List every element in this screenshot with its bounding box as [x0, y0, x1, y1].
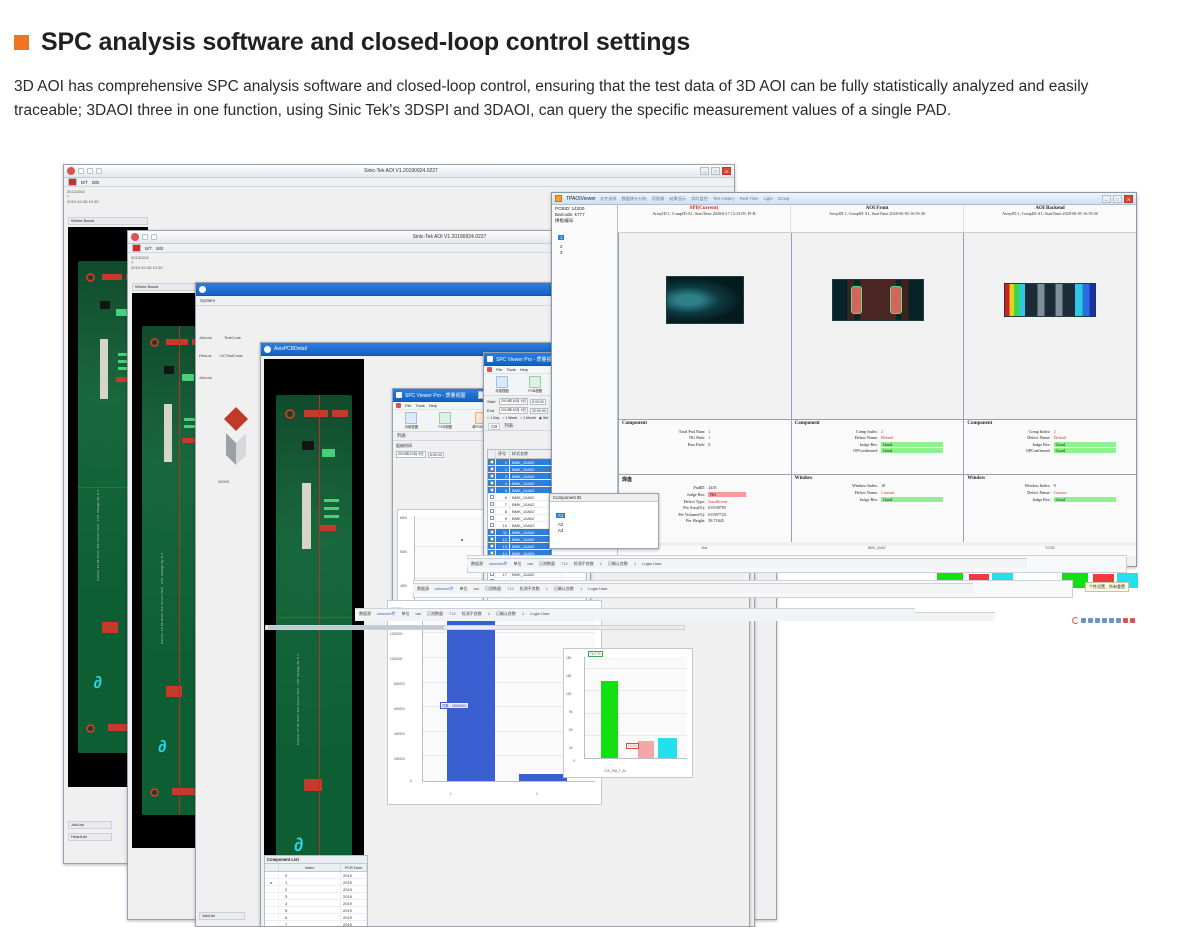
table-body[interactable]: 02019▸1201922019320194201952019620197201…	[265, 872, 367, 927]
row-checkbox[interactable]	[490, 530, 494, 534]
menu-item[interactable]: 文件选择	[600, 196, 617, 202]
title-row: SPC analysis software and closed-loop co…	[14, 28, 1174, 57]
panel-key: PadID:	[619, 485, 708, 490]
column-subtitle: ArrayID:1, CompID:A1, StartTime:2020-06-…	[966, 211, 1134, 216]
tooltip: 个性设置，所有重置	[1085, 582, 1129, 592]
refresh-icon[interactable]	[1072, 617, 1079, 624]
ribbon-label: 月维视图	[495, 388, 509, 393]
joblist-button[interactable]: JobList	[199, 912, 245, 920]
logo-shape-icon	[214, 403, 258, 473]
pcb-view-icon	[529, 376, 541, 388]
panel-value: 0.0397723	[708, 512, 726, 517]
panel-row: Window Index:9	[964, 483, 1136, 488]
minimize-button[interactable]: —	[1102, 195, 1111, 203]
panel-value: 9	[1054, 483, 1056, 488]
status-item: 数据源	[471, 561, 483, 567]
status-item: 已测数量	[539, 561, 555, 567]
download-icon[interactable]	[1102, 618, 1107, 623]
status-item: 712	[507, 586, 514, 591]
col-seq: 序号	[496, 450, 510, 458]
panel-value: Good	[1054, 497, 1116, 502]
app-logo-icon	[131, 233, 139, 241]
tpaoi-panel-row: ComponentTotal Pad Num:2NG Pads:1Pass Pa…	[618, 419, 1136, 542]
label-red	[320, 525, 336, 531]
status-item: 已测数量	[485, 586, 501, 592]
panel-key: Judge Res:	[964, 442, 1053, 447]
home-icon[interactable]	[1095, 618, 1100, 623]
joblist-label-2[interactable]: JobList	[199, 375, 212, 380]
status-item: 已确认良数	[608, 561, 628, 567]
menu-item[interactable]: Real Time	[740, 196, 759, 202]
component-id-window[interactable]: Component ID A1A2A3	[549, 493, 659, 549]
panel-value: 1	[708, 435, 710, 440]
status-item: 检测不良数	[462, 611, 482, 617]
panel-value: 2435	[708, 485, 716, 490]
row-checkbox[interactable]	[490, 495, 494, 499]
panel-row: PadID:2435	[619, 485, 791, 490]
slide-body-text: 3D AOI has comprehensive SPC analysis so…	[14, 75, 1129, 122]
y-tick: 150	[566, 674, 571, 678]
table-row[interactable]: 22019	[265, 886, 367, 893]
component-id-list[interactable]: A1A2A3	[550, 502, 658, 549]
toolbar-icon[interactable]	[142, 234, 148, 240]
status-bar-2[interactable]: 数据源sinicsmt件单位um已测数量712检测不良数1已确认良数1Login…	[413, 583, 973, 593]
titlebar[interactable]: Sinic-Tek AOI V1.20190924.0227 — □ ✕	[64, 165, 734, 178]
close-button[interactable]: ✕	[1124, 195, 1133, 203]
panel-component-3: ComponentComp Index:2Defect Name:Default…	[963, 419, 1136, 474]
panel-key: Window Index:	[964, 483, 1053, 488]
aoi-backend-image-cell[interactable]	[963, 233, 1136, 419]
app-mark-icon	[396, 403, 401, 408]
y-tick: 8000	[400, 516, 407, 520]
menu-item[interactable]: Test History	[713, 196, 735, 202]
mount-hole	[150, 338, 159, 347]
status-item: 1	[488, 611, 490, 616]
panel-row: Judge Res:Good	[964, 497, 1136, 502]
panel-key: OPConfirmed:	[792, 448, 881, 453]
status-item: 已确认良数	[554, 586, 574, 592]
end-label: End	[487, 408, 497, 413]
window-controls[interactable]: — □ ✕	[1102, 195, 1133, 203]
ic-chip	[100, 301, 110, 309]
panel-window-1: WindowWindow Index:10Defect Name:CustomJ…	[791, 474, 964, 542]
tree-item[interactable]: 1	[558, 235, 564, 240]
toolbar-icon[interactable]	[78, 168, 84, 174]
app-logo-icon	[67, 167, 75, 175]
silk-logo: ∂	[294, 835, 303, 857]
status-item: Login User	[588, 586, 607, 591]
status-item: um	[473, 586, 479, 591]
start-time-input[interactable]: 8:00:00	[530, 399, 546, 405]
row-checkbox[interactable]	[490, 467, 494, 471]
connector-pads	[332, 410, 348, 417]
panel-value: Default	[1054, 435, 1067, 440]
y-tick: 1000000	[390, 657, 402, 661]
label-red	[182, 438, 195, 443]
y-tick: 200000	[394, 757, 405, 761]
close-button[interactable]: ✕	[722, 167, 731, 175]
column-header: SPI(Current)ArrayID:1, CompID:A1, StartT…	[618, 205, 790, 232]
tab-bb[interactable]: B/B	[156, 246, 163, 251]
connector-strip	[100, 339, 108, 399]
silkscreen-text: Canner 16.05 Sinic-Tek Vision Tech. LTD.…	[96, 489, 100, 581]
panel-col-3: ComponentComp Index:2Defect Name:Default…	[963, 419, 1136, 542]
tab-system[interactable]: System	[200, 298, 215, 303]
barcode-label: Barcode:	[555, 212, 573, 217]
table-row[interactable]: 52019	[265, 907, 367, 914]
table-row[interactable]: 62019	[265, 914, 367, 921]
y-tick: 0	[410, 779, 412, 783]
more-icon[interactable]	[1130, 618, 1135, 623]
headlist-button[interactable]: HeadList	[68, 833, 112, 841]
gridline	[415, 578, 492, 579]
status-item: 单位	[401, 611, 409, 617]
joblist-button[interactable]: JobList	[68, 821, 112, 829]
panel-row: NG Pads:1	[619, 435, 791, 440]
status-item: 数据源	[359, 611, 371, 617]
defect-marker	[102, 622, 118, 633]
row-checkbox[interactable]	[490, 516, 494, 520]
panel-value: 58.71045	[708, 518, 724, 523]
bar-category-2	[519, 774, 567, 781]
app-mark-icon	[68, 178, 77, 186]
component-pad	[324, 507, 339, 510]
status-bar-3[interactable]: 数据源sinicsmt件单位um已测数量712检测不良数1已确认良数1Login…	[355, 608, 915, 618]
table-row[interactable]: 32019	[265, 893, 367, 900]
panel-key: Defect Name:	[792, 490, 881, 495]
column-header: AOI BackendArrayID:1, CompID:A1, StartTi…	[963, 205, 1136, 232]
status-item: 单位	[459, 586, 467, 592]
mount-hole	[86, 273, 95, 282]
connector-strip	[302, 483, 311, 549]
panel-component-2: ComponentComp Index:2Defect Name:Default…	[791, 419, 964, 474]
tab-bt[interactable]: B/T	[81, 180, 88, 185]
aoi-front-image	[832, 279, 924, 321]
crosshair-horizontal	[276, 617, 352, 618]
start-date-input[interactable]: 2019年10月 9日	[396, 451, 426, 458]
pcbid-label: PCBID:	[555, 206, 570, 211]
panel-key: Total Pad Num:	[619, 429, 708, 434]
panel-value: 2	[881, 429, 883, 434]
status-item: 检测不良数	[520, 586, 540, 592]
mount-hole	[86, 724, 95, 733]
month-view-icon	[496, 376, 508, 388]
y-tick: 600000	[394, 707, 405, 711]
panel-value: Insufficient	[708, 499, 727, 504]
page-title: SPC analysis software and closed-loop co…	[41, 28, 690, 57]
silkscreen-text: Canner 16.05 Sinic-Tek Vision Tech. LTD.…	[160, 553, 164, 645]
menu-tools[interactable]: Tools	[415, 403, 424, 408]
end-date-input[interactable]: 2019年10月 9日	[499, 407, 528, 414]
window-title: Sinic-Tek AOI V1.20190924.0227	[105, 168, 697, 174]
silk-logo: ∂	[158, 737, 166, 757]
tab-cb[interactable]: CB	[488, 423, 500, 430]
component-pad	[116, 309, 128, 316]
bullet-marker-icon	[14, 35, 29, 50]
status-item: 1	[580, 586, 582, 591]
panel-value: Good	[1054, 448, 1116, 453]
ribbon-tab-month[interactable]: 月维视图	[405, 412, 419, 429]
menu-file[interactable]: File	[405, 403, 411, 408]
window-icon[interactable]	[1109, 618, 1114, 623]
radio-1month[interactable]: ○ 1 Month	[520, 416, 536, 420]
bar-label-ng: 13.2%	[626, 743, 639, 749]
row-checkbox[interactable]	[490, 481, 494, 485]
panel-title: Component	[964, 420, 1136, 427]
start-date-input[interactable]: 2019年10月 9日	[499, 398, 528, 405]
panel-key: Comp Index:	[964, 429, 1053, 434]
panel-row: Defect Name:Default	[792, 435, 964, 440]
menu-item[interactable]: 数据统计分析	[622, 196, 647, 202]
menu-tools[interactable]: Tools	[506, 367, 515, 372]
screenshot-composite: Sinic-Tek AOI V1.20190924.0227 — □ ✕ B/T…	[55, 160, 1145, 632]
app-mark-icon	[132, 244, 141, 252]
row-checkbox[interactable]	[490, 537, 494, 541]
aoi-backend-image	[1004, 283, 1096, 317]
row-checkbox[interactable]	[490, 551, 494, 555]
gridline	[585, 668, 687, 669]
panel-key: Defect Name:	[964, 490, 1053, 495]
ribbon-tab-pcb[interactable]: PCB视图	[438, 412, 452, 429]
table-header: Index PCB Num	[265, 864, 367, 872]
menu-bar[interactable]: 文件选择数据统计分析用图像结果显示实时监控Test HistoryReal Ti…	[600, 196, 1098, 202]
connector-strip	[164, 404, 172, 462]
gridline	[585, 735, 687, 736]
window-controls[interactable]: — □ ✕	[700, 167, 731, 175]
whole-board-label: Whole Board	[68, 217, 148, 225]
component-list-table[interactable]: Component List Index PCB Num 02019▸12019…	[264, 855, 368, 927]
panel-row: Total Pad Num:2	[619, 429, 791, 434]
start-label: Start	[487, 399, 497, 404]
bar-good	[601, 681, 617, 758]
ic-chip	[302, 441, 314, 450]
testcode-label[interactable]: TestCode	[224, 335, 241, 340]
component-id-item[interactable]: A3	[556, 528, 652, 533]
col-index: Index	[279, 864, 341, 871]
sort-icon[interactable]	[1116, 618, 1121, 623]
connector-pads	[304, 410, 328, 417]
ribbon-tab-pcb[interactable]: PCB视图	[528, 376, 542, 393]
component-id-title: Component ID	[550, 494, 658, 502]
panel-title: Component	[619, 420, 791, 427]
column-subtitle: ArrayID:1, CompID:A1, StartTime:2020/6/1…	[620, 211, 788, 216]
minimize-button[interactable]: —	[700, 167, 709, 175]
tab-bt[interactable]: B/T	[145, 246, 152, 251]
panel-title: 焊盘	[619, 475, 791, 484]
panel-key: NG Pads:	[619, 435, 708, 440]
panel-key: Defect Name:	[792, 435, 881, 440]
ribbon-label: 月维视图	[405, 424, 419, 429]
menu-item[interactable]: 用图像	[652, 196, 665, 202]
table-row[interactable]: 02019	[265, 872, 367, 879]
month-view-icon	[405, 412, 417, 424]
menu-item[interactable]: 实时监控	[691, 196, 708, 202]
pcbid-row: PCBID: 14200	[552, 205, 617, 212]
status-item: 检测不良数	[574, 561, 594, 567]
panel-row: Pass Pads:0	[619, 442, 791, 447]
status-item: 已确认良数	[496, 611, 516, 617]
y-tick: 0	[573, 759, 575, 763]
y-tick: 4000	[400, 584, 407, 588]
status-item: Login User	[530, 611, 549, 616]
start-time-input[interactable]: 8:00:00	[428, 452, 444, 458]
panel-key: Judge Res:	[792, 442, 881, 447]
y-tick: 6000	[400, 550, 407, 554]
tab-list[interactable]: 列表	[504, 423, 513, 429]
y-tick: 60	[569, 728, 573, 732]
toolbar-icon[interactable]	[87, 168, 93, 174]
toolbar-icon[interactable]	[96, 168, 102, 174]
yield-bar-chart[interactable]: 76.27% 13.2% 180 150 120 90 60 30 0 17A_…	[563, 648, 693, 778]
panel-key: Judge Res:	[792, 497, 881, 502]
component-id-item[interactable]: A1	[556, 513, 565, 518]
panel-row: OPConfirmed:Good	[964, 448, 1136, 453]
app-logo-icon	[555, 195, 562, 202]
tray-icons[interactable]	[1072, 617, 1135, 624]
panel-window-2: WindowWindow Index:9Defect Name:CustomJu…	[963, 474, 1136, 542]
silk-logo: ∂	[94, 673, 102, 693]
tab-quality[interactable]: 列表	[397, 433, 406, 439]
reslst-label[interactable]: ResLst	[199, 353, 211, 358]
table-row[interactable]: ▸12019	[265, 879, 367, 886]
menu-item[interactable]: 结果显示	[669, 196, 686, 202]
panel-title: Component	[792, 420, 964, 427]
status-item: sinicsmt件	[435, 586, 453, 592]
app-logo-icon	[487, 356, 493, 362]
bar-label-good: 76.27%	[588, 651, 603, 657]
horizontal-scrollbar[interactable]	[265, 625, 685, 630]
panel-component-1: ComponentTotal Pad Num:2NG Pads:1Pass Pa…	[618, 419, 791, 474]
mount-hole	[285, 409, 295, 419]
panel-value: 10	[881, 483, 885, 488]
aoi-front-image-cell[interactable]	[791, 233, 964, 419]
titlebar[interactable]: TPAOIViewer 文件选择数据统计分析用图像结果显示实时监控Test Hi…	[552, 193, 1136, 205]
status-item: sinicsmt件	[489, 561, 507, 567]
panel-row: Window Index:10	[792, 483, 964, 488]
panel-key: Defect Name:	[964, 435, 1053, 440]
status-item: 1	[546, 586, 548, 591]
row-checkbox[interactable]	[490, 523, 494, 527]
pcb-board: ∂ Canner 16.05 Sinic-Tek Vision Tech. LT…	[276, 395, 352, 923]
menu-item[interactable]: Group	[778, 196, 790, 202]
link-icon[interactable]	[1088, 618, 1093, 623]
spi-image	[666, 276, 744, 324]
gridline	[585, 713, 687, 714]
tree-title: 拼板编号	[552, 217, 617, 225]
connector-pads	[102, 274, 122, 280]
status-item: 已测数量	[427, 611, 443, 617]
radio-1day[interactable]: ○ 1 Day	[487, 416, 499, 420]
y-tick: 90	[569, 710, 573, 714]
status-bar-1[interactable]: 数据源sinicsmt件单位um已测数量712检测不良数1已确认良数1Login…	[467, 558, 1027, 568]
toolbar-icon[interactable]	[151, 234, 157, 240]
panel-row: Defect Name:Default	[964, 435, 1136, 440]
component-id-item[interactable]: A2	[556, 522, 652, 527]
panel-value: Default	[881, 435, 894, 440]
panel-key: Judge Res:	[964, 497, 1053, 502]
ribbon-label: PCB视图	[528, 388, 542, 393]
data-point	[461, 539, 463, 541]
pcb-view-icon	[439, 412, 451, 424]
row-checkbox[interactable]	[490, 509, 494, 513]
scrollbar-thumb[interactable]	[268, 626, 444, 629]
uctestcode-label[interactable]: UCTestCode	[220, 353, 243, 358]
x-tick: 2	[536, 792, 538, 796]
status-item: 1	[634, 561, 636, 566]
inspection-image-row	[618, 233, 1136, 419]
tree-item[interactable]: 3	[558, 250, 611, 255]
radio-1week[interactable]: ○ 1 Week	[502, 416, 517, 420]
settings-icon[interactable]	[1081, 618, 1086, 623]
column-subtitle: ArrayID:1, CompID:A1, StartTime:2020-06-…	[793, 211, 961, 216]
row-checkbox[interactable]	[490, 488, 494, 492]
pcb-view-detail[interactable]: ∂ Canner 16.05 Sinic-Tek Vision Tech. LT…	[264, 359, 364, 927]
column-header: AOI FrontArrayID:1, CompID:A1, StartTime…	[790, 205, 963, 232]
ribbon-tab-month[interactable]: 月维视图	[495, 376, 509, 393]
panel-value: Custom	[881, 490, 894, 495]
panel-title: Window	[792, 475, 964, 482]
menu-help[interactable]: Help	[520, 367, 528, 372]
panel-row: Comp Index:2	[964, 429, 1136, 434]
tab-bb[interactable]: B/B	[92, 180, 99, 185]
barcode-value: k777	[575, 212, 585, 217]
gridline	[415, 546, 492, 547]
row-checkbox[interactable]	[490, 460, 494, 464]
status-item: 1	[522, 611, 524, 616]
filter-icon[interactable]	[1123, 618, 1128, 623]
radio-set[interactable]: ◉ Set	[539, 416, 548, 420]
row-checkbox[interactable]	[490, 544, 494, 548]
tree-item[interactable]: 2	[558, 244, 611, 249]
panel-row: Comp Index:2	[792, 429, 964, 434]
status-item: 712	[449, 611, 456, 616]
panel-value: 2	[1054, 429, 1056, 434]
status-item: 数据源	[417, 586, 429, 592]
end-time-input[interactable]: 20:00:00	[530, 408, 548, 414]
menu-help[interactable]: Help	[429, 403, 437, 408]
panel-key: Pass Pads:	[619, 442, 708, 447]
panel-title: Window	[964, 475, 1136, 482]
panel-value: Good	[1054, 442, 1116, 447]
panel-row: Defect Name:Custom	[792, 490, 964, 495]
panel-value: 0.0539795	[708, 505, 726, 510]
spi-image-cell[interactable]	[618, 233, 791, 419]
col-checkbox	[488, 450, 496, 458]
status-item: um	[527, 561, 533, 566]
y-tick: 30	[569, 746, 573, 750]
array-tree[interactable]: 123	[552, 225, 617, 257]
panel-value: Good	[881, 497, 943, 502]
row-checkbox[interactable]	[490, 474, 494, 478]
menu-item[interactable]: Light	[764, 196, 773, 202]
tab-strip[interactable]: B/T B/B	[64, 178, 734, 187]
bar-confirm	[658, 738, 676, 758]
maximize-button[interactable]: □	[1113, 195, 1122, 203]
row-checkbox[interactable]	[490, 502, 494, 506]
panel-row: Judge Res:Good	[964, 442, 1136, 447]
maximize-button[interactable]: □	[711, 167, 720, 175]
table-row[interactable]: 42019	[265, 900, 367, 907]
y-tick: 1200000	[390, 632, 402, 636]
joblist-label[interactable]: JobList	[199, 335, 212, 340]
table-row[interactable]: 72019	[265, 921, 367, 927]
app-mark-icon	[487, 367, 492, 372]
bar-category-1	[447, 616, 495, 781]
y-tick: 800000	[394, 682, 405, 686]
tpaoi-column-headers: SPI(Current)ArrayID:1, CompID:A1, StartT…	[618, 205, 1136, 233]
y-tick: 120	[566, 692, 571, 696]
menu-file[interactable]: File	[496, 367, 502, 372]
